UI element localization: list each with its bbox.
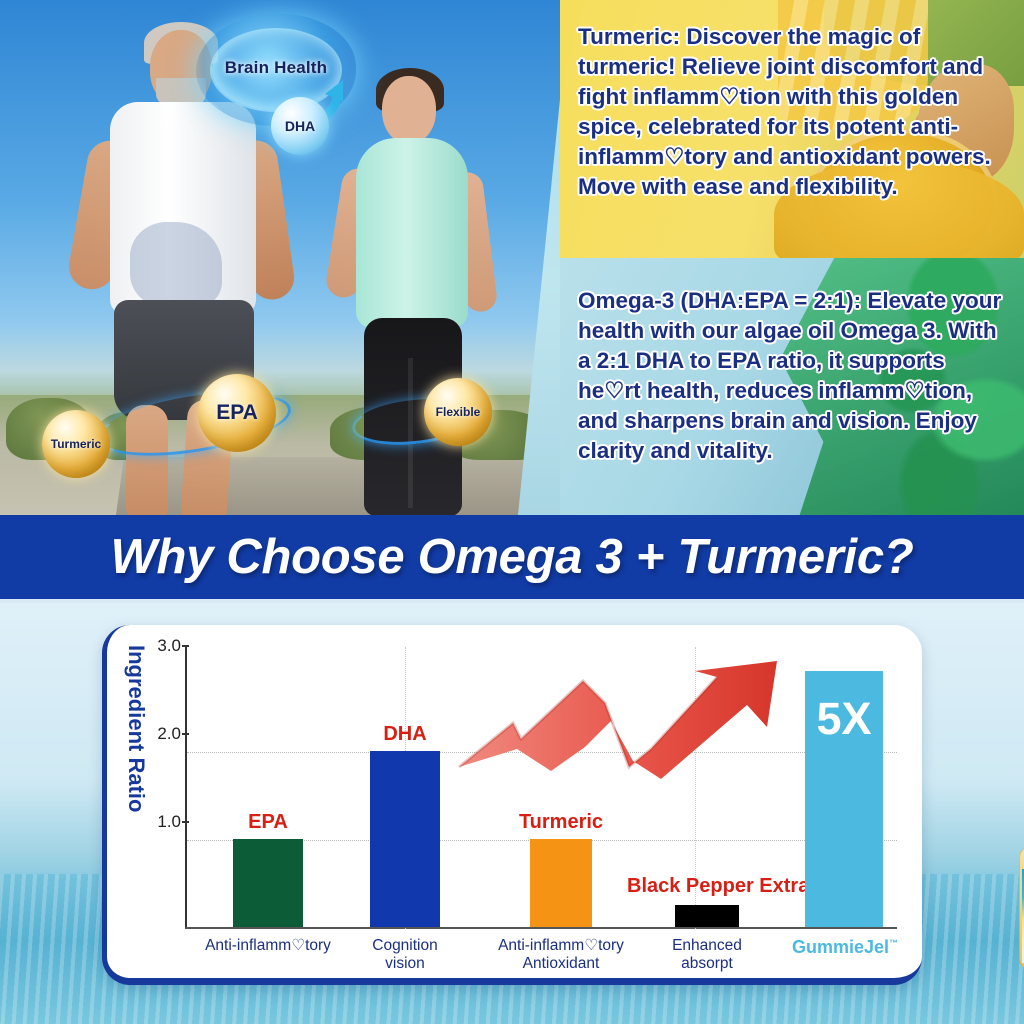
x-label-0: Anti-inflamm♡tory bbox=[205, 937, 331, 955]
bar-black-pepper: Black Pepper Extract bbox=[675, 905, 739, 927]
turmeric-panel: Turmeric: Discover the magic of turmeric… bbox=[560, 0, 1024, 258]
x-label-3-line2: absorpt bbox=[672, 955, 742, 973]
bar-label-5x: 5X bbox=[816, 693, 871, 745]
headline-text: Why Choose Omega 3 + Turmeric? bbox=[111, 529, 914, 585]
lifestyle-photo: Brain Health DHA Turmeric EPA Flexible bbox=[0, 0, 570, 515]
headline-banner: Why Choose Omega 3 + Turmeric? bbox=[0, 515, 1024, 603]
shirt bbox=[110, 102, 256, 314]
x-axis bbox=[185, 927, 897, 929]
omega-description: Omega-3 (DHA:EPA = 2:1): Elevate your he… bbox=[578, 286, 1010, 466]
bar-label-epa: EPA bbox=[248, 812, 288, 833]
hero-section: Brain Health DHA Turmeric EPA Flexible bbox=[0, 0, 1024, 515]
brand-name: GummieJel bbox=[792, 937, 889, 957]
bottle-body: NEXTDIA OMEGA-3 1000MG + TURMERIC EPA+DH… bbox=[1019, 846, 1024, 969]
y-tick-2: 2.0 bbox=[141, 724, 181, 744]
chart-section: Ingredient Ratio 1.0 2.0 3.0 bbox=[0, 603, 1024, 1024]
growth-arrow-icon bbox=[455, 657, 795, 787]
turmeric-drop: Turmeric bbox=[42, 410, 110, 478]
brain-health-label: Brain Health bbox=[196, 58, 356, 78]
y-tick-1: 1.0 bbox=[141, 812, 181, 832]
bar-label-black-pepper: Black Pepper Extract bbox=[627, 876, 787, 897]
x-label-2-line2: Antioxidant bbox=[498, 955, 624, 973]
dha-bubble-label: DHA bbox=[285, 118, 315, 134]
x-label-1-line1: Cognition bbox=[372, 937, 438, 955]
bar-gummiejel: 5X bbox=[805, 671, 883, 927]
epa-drop: EPA bbox=[198, 374, 276, 452]
flexible-drop: Flexible bbox=[424, 378, 492, 446]
x-axis-labels: Anti-inflamm♡tory Cognition vision Anti-… bbox=[185, 937, 897, 997]
head bbox=[382, 76, 436, 144]
x-label-1: Cognition vision bbox=[372, 937, 438, 974]
female-jogger bbox=[330, 72, 510, 512]
turmeric-description: Turmeric: Discover the magic of turmeric… bbox=[578, 22, 1010, 202]
bar-dha: DHA bbox=[370, 751, 440, 927]
x-label-4-line1: GummieJel™ bbox=[792, 937, 898, 958]
y-axis bbox=[185, 647, 187, 929]
infographic-root: Brain Health DHA Turmeric EPA Flexible bbox=[0, 0, 1024, 1024]
trademark-symbol: ™ bbox=[889, 938, 898, 948]
epa-drop-label: EPA bbox=[216, 401, 258, 425]
y-tick-3: 3.0 bbox=[141, 636, 181, 656]
x-label-1-line2: vision bbox=[372, 955, 438, 973]
dha-bubble: DHA bbox=[271, 97, 329, 155]
x-label-0-line1: Anti-inflamm♡tory bbox=[205, 937, 331, 955]
x-label-2: Anti-inflamm♡tory Antioxidant bbox=[498, 937, 624, 974]
x-label-4: GummieJel™ bbox=[792, 937, 898, 958]
gridline-2 bbox=[187, 752, 897, 753]
bar-label-dha: DHA bbox=[383, 724, 426, 745]
flexible-drop-label: Flexible bbox=[436, 405, 481, 419]
bar-label-turmeric: Turmeric bbox=[519, 812, 603, 833]
x-label-2-line1: Anti-inflamm♡tory bbox=[498, 937, 624, 955]
x-label-3: Enhanced absorpt bbox=[672, 937, 742, 974]
turmeric-drop-label: Turmeric bbox=[51, 437, 101, 451]
bar-turmeric: Turmeric bbox=[530, 839, 592, 927]
plot-area: 1.0 2.0 3.0 bbox=[185, 647, 897, 929]
chart-card: Ingredient Ratio 1.0 2.0 3.0 bbox=[102, 625, 922, 985]
y-axis-label: Ingredient Ratio bbox=[119, 645, 149, 895]
x-label-3-line1: Enhanced bbox=[672, 937, 742, 955]
bar-epa: EPA bbox=[233, 839, 303, 927]
omega-panel: Omega-3 (DHA:EPA = 2:1): Elevate your he… bbox=[560, 258, 1024, 515]
tank-top bbox=[356, 138, 468, 328]
product-bottle: NEXTDIA OMEGA-3 1000MG + TURMERIC EPA+DH… bbox=[1013, 829, 1024, 969]
